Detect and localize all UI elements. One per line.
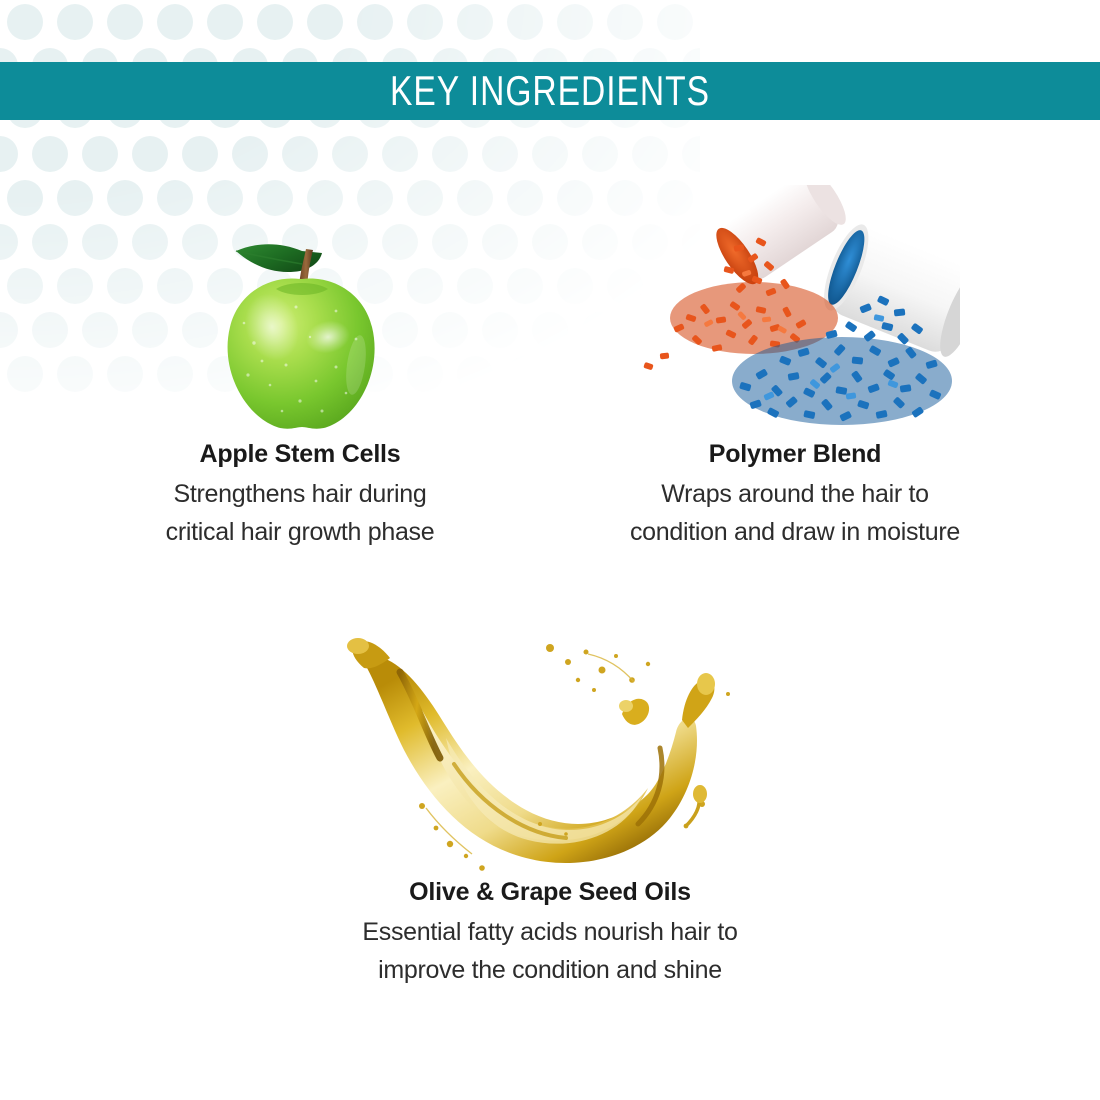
description-line-2: improve the condition and shine: [378, 956, 722, 984]
ingredient-card-polymer-blend: Polymer Blend Wraps around the hair to c…: [545, 185, 1045, 551]
ingredient-description: Wraps around the hair to condition and d…: [545, 475, 1045, 551]
ingredient-title: Apple Stem Cells: [60, 440, 540, 469]
green-apple-image: [150, 215, 450, 440]
description-line-2: critical hair growth phase: [166, 518, 435, 546]
description-line-1: Essential fatty acids nourish hair to: [362, 918, 737, 946]
polymer-pellets-image: [630, 185, 960, 440]
description-line-1: Wraps around the hair to: [661, 480, 929, 508]
ingredient-title: Polymer Blend: [545, 440, 1045, 469]
key-ingredients-panel: KEY INGREDIENTS: [0, 0, 1100, 1100]
ingredient-card-olive-grape-seed-oils: Olive & Grape Seed Oils Essential fatty …: [300, 628, 800, 989]
ingredient-card-apple-stem-cells: Apple Stem Cells Strengthens hair during…: [60, 215, 540, 551]
ingredient-description: Essential fatty acids nourish hair to im…: [300, 913, 800, 989]
ingredient-description: Strengthens hair during critical hair gr…: [60, 475, 540, 551]
ingredient-title: Olive & Grape Seed Oils: [300, 878, 800, 907]
page-title: KEY INGREDIENTS: [390, 70, 710, 112]
oil-splash-image: [330, 628, 770, 878]
description-line-1: Strengthens hair during: [174, 480, 427, 508]
key-ingredients-banner: KEY INGREDIENTS: [0, 62, 1100, 120]
description-line-2: condition and draw in moisture: [630, 518, 960, 546]
